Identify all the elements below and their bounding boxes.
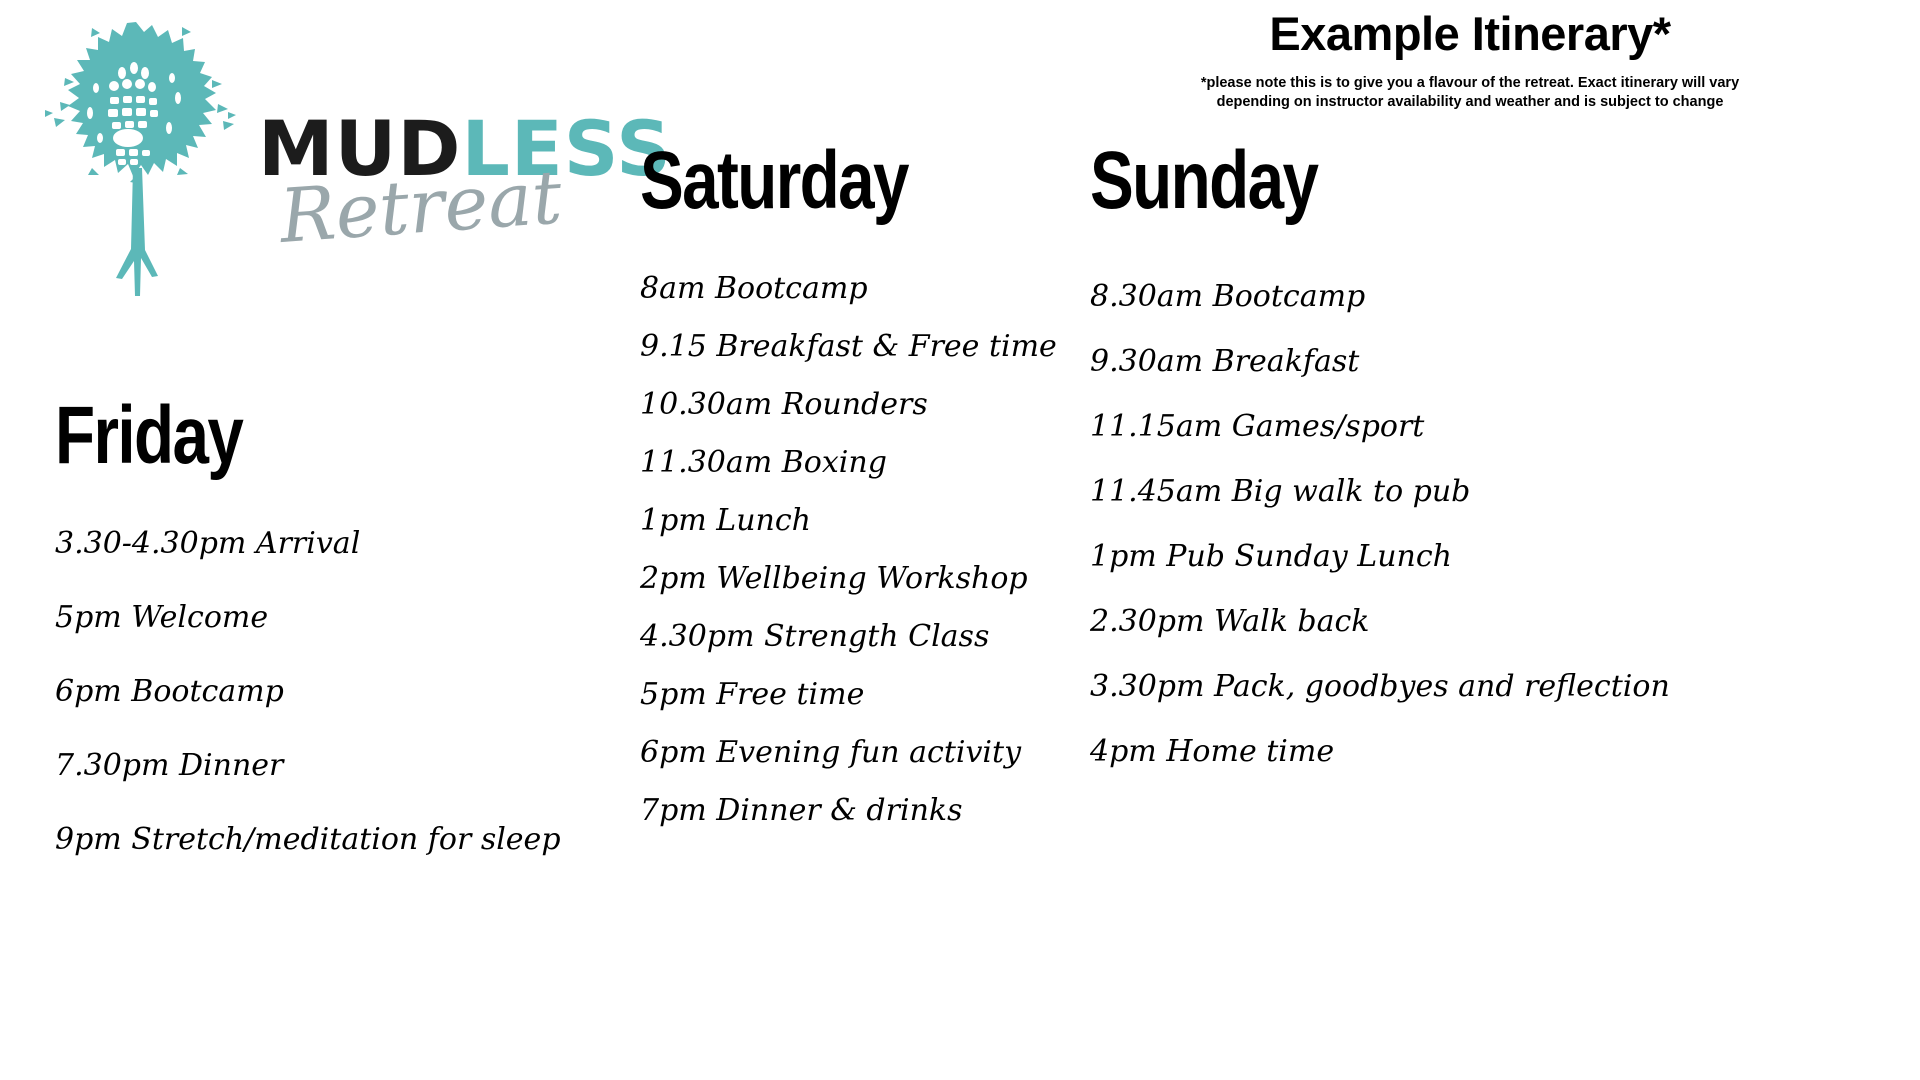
schedule-item: 11.15am Games/sport <box>1090 412 1610 442</box>
page-title: Example Itinerary* <box>1020 8 1920 60</box>
schedule-item: 7.30pm Dinner <box>55 751 615 781</box>
schedule-item: 9.15 Breakfast & Free time <box>640 332 1060 362</box>
schedule-list-saturday: 8am Bootcamp 9.15 Breakfast & Free time … <box>640 274 1060 826</box>
tree-icon <box>32 18 247 296</box>
day-column-saturday: Saturday 8am Bootcamp 9.15 Breakfast & F… <box>640 140 1060 854</box>
schedule-item: 3.30-4.30pm Arrival <box>55 529 615 559</box>
schedule-item: 1pm Lunch <box>640 506 1060 536</box>
schedule-item: 6pm Bootcamp <box>55 677 615 707</box>
day-title-sunday: Sunday <box>1090 140 1506 222</box>
schedule-item: 3.30pm Pack, goodbyes and reflection <box>1090 672 1610 702</box>
disclaimer-note: *please note this is to give you a flavo… <box>1180 74 1760 112</box>
schedule-item: 11.30am Boxing <box>640 448 1060 478</box>
day-column-sunday: Sunday 8.30am Bootcamp 9.30am Breakfast … <box>1090 140 1610 802</box>
schedule-item: 5pm Welcome <box>55 603 615 633</box>
schedule-item: 7pm Dinner & drinks <box>640 796 1060 826</box>
schedule-item: 8.30am Bootcamp <box>1090 282 1610 312</box>
schedule-item: 2.30pm Walk back <box>1090 607 1610 637</box>
schedule-item: 11.45am Big walk to pub <box>1090 477 1610 507</box>
schedule-item: 8am Bootcamp <box>640 274 1060 304</box>
schedule-item: 4.30pm Strength Class <box>640 622 1060 652</box>
day-column-friday: Friday 3.30-4.30pm Arrival 5pm Welcome 6… <box>55 395 615 899</box>
schedule-item: 4pm Home time <box>1090 737 1610 767</box>
brand-logo: MUDLESS Retreat <box>20 18 640 298</box>
day-title-saturday: Saturday <box>640 140 976 222</box>
schedule-item: 2pm Wellbeing Workshop <box>640 564 1060 594</box>
schedule-item: 9.30am Breakfast <box>1090 347 1610 377</box>
day-title-friday: Friday <box>55 395 503 477</box>
schedule-list-friday: 3.30-4.30pm Arrival 5pm Welcome 6pm Boot… <box>55 529 615 855</box>
schedule-item: 5pm Free time <box>640 680 1060 710</box>
schedule-item: 6pm Evening fun activity <box>640 738 1060 768</box>
schedule-item: 9pm Stretch/meditation for sleep <box>55 825 615 855</box>
wordmark-retreat: Retreat <box>277 155 639 254</box>
schedule-list-sunday: 8.30am Bootcamp 9.30am Breakfast 11.15am… <box>1090 282 1610 767</box>
itinerary-header: Example Itinerary* *please note this is … <box>1020 8 1920 111</box>
schedule-item: 1pm Pub Sunday Lunch <box>1090 542 1610 572</box>
schedule-item: 10.30am Rounders <box>640 390 1060 420</box>
brand-wordmark: MUDLESS Retreat <box>258 113 638 254</box>
